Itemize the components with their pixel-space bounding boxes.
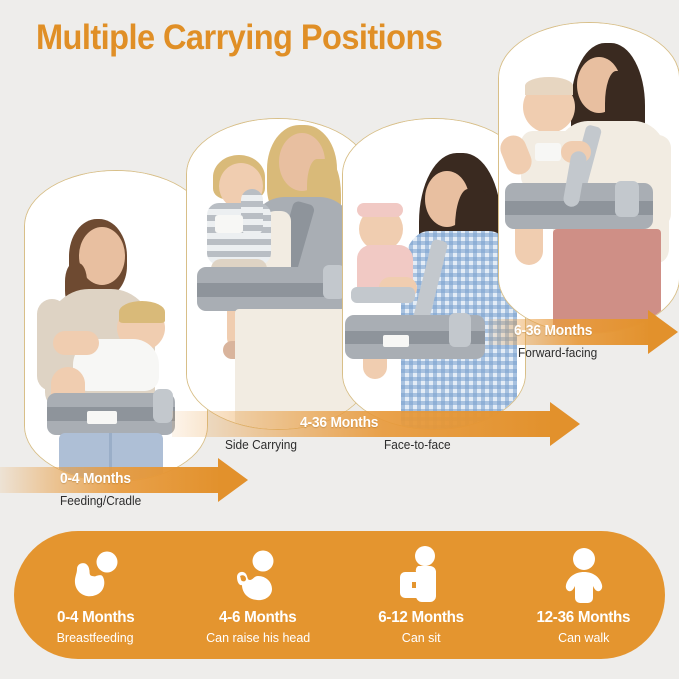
baby-lifting-head-icon xyxy=(227,545,289,607)
baby-breastfeeding-icon xyxy=(64,545,126,607)
arrow-months-label: 4-36 Months xyxy=(300,415,378,431)
arrow-position-label-right: Face-to-face xyxy=(384,438,451,452)
arrow-position-label: Feeding/Cradle xyxy=(60,494,141,508)
photo-image-4 xyxy=(499,23,679,333)
milestone-can-sit: 6-12 Months Can sit xyxy=(340,531,503,659)
milestone-months: 0-4 Months xyxy=(57,609,134,627)
milestone-desc: Breastfeeding xyxy=(57,630,134,645)
baby-sitting-icon xyxy=(390,545,452,607)
arrow-4-36-months: 4-36 Months Side Carrying Face-to-face xyxy=(172,402,588,446)
milestone-desc: Can sit xyxy=(401,630,440,645)
arrow-position-label-left: Side Carrying xyxy=(225,438,297,452)
milestone-months: 12-36 Months xyxy=(537,609,631,627)
milestone-months: 6-12 Months xyxy=(378,609,464,627)
arrow-position-label: Forward-facing xyxy=(518,346,597,360)
arrow-months-label: 0-4 Months xyxy=(60,471,131,487)
baby-standing-icon xyxy=(553,545,615,607)
arrow-tip xyxy=(648,310,678,354)
milestones-panel: 0-4 Months Breastfeeding 4-6 Months Can … xyxy=(14,531,665,659)
arrow-tip xyxy=(218,458,248,502)
milestone-desc: Can raise his head xyxy=(206,630,310,645)
arrow-months-label: 6-36 Months xyxy=(514,323,592,339)
arrow-0-4-months: 0-4 Months Feeding/Cradle xyxy=(0,458,252,502)
infographic-root: Multiple Carrying Positions xyxy=(0,0,679,679)
arrow-tip xyxy=(550,402,580,446)
milestone-can-walk: 12-36 Months Can walk xyxy=(502,531,665,659)
milestone-months: 4-6 Months xyxy=(219,609,296,627)
milestone-breastfeeding: 0-4 Months Breastfeeding xyxy=(14,531,177,659)
milestone-desc: Can walk xyxy=(558,630,609,645)
arrow-6-36-months: 6-36 Months Forward-facing xyxy=(488,310,679,354)
page-title: Multiple Carrying Positions xyxy=(36,18,442,58)
photo-forward-facing xyxy=(498,22,679,334)
milestone-raise-head: 4-6 Months Can raise his head xyxy=(177,531,340,659)
